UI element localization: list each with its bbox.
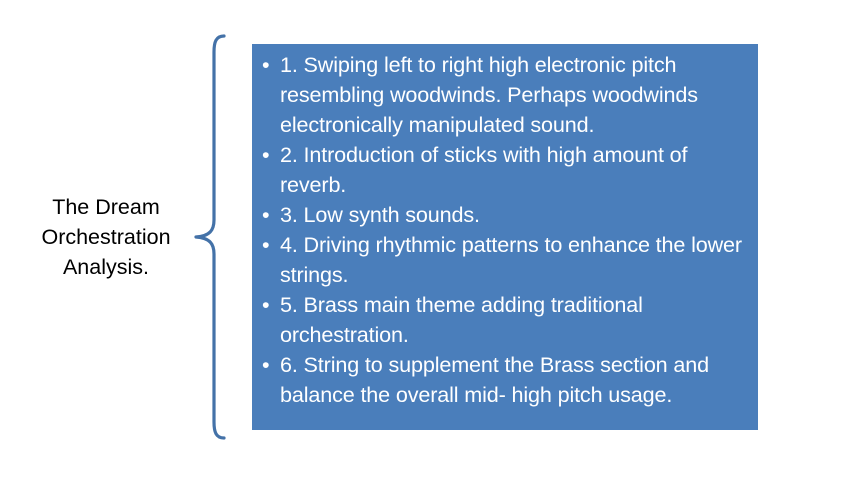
list-item: • 6. String to supplement the Brass sect… [260, 350, 754, 410]
bullet-icon: • [262, 140, 276, 170]
list-item-text: 4. Driving rhythmic patterns to enhance … [280, 230, 754, 290]
list-item: • 2. Introduction of sticks with high am… [260, 140, 754, 200]
caption-label: The Dream Orchestration Analysis. [28, 192, 184, 282]
bullet-icon: • [262, 200, 276, 230]
list-item: • 4. Driving rhythmic patterns to enhanc… [260, 230, 754, 290]
list-item-text: 6. String to supplement the Brass sectio… [280, 350, 754, 410]
list-item-text: 2. Introduction of sticks with high amou… [280, 140, 754, 200]
list-item-text: 5. Brass main theme adding traditional o… [280, 290, 754, 350]
analysis-content-box: • 1. Swiping left to right high electron… [252, 44, 758, 430]
bullet-icon: • [262, 230, 276, 260]
list-item: • 3. Low synth sounds. [260, 200, 754, 230]
list-item-text: 3. Low synth sounds. [280, 200, 754, 230]
slide-canvas: The Dream Orchestration Analysis. • 1. S… [0, 0, 860, 489]
right-curly-brace-icon [188, 34, 228, 444]
bullet-icon: • [262, 50, 276, 80]
bullet-list: • 1. Swiping left to right high electron… [260, 50, 754, 410]
bullet-icon: • [262, 290, 276, 320]
list-item-text: 1. Swiping left to right high electronic… [280, 50, 754, 140]
list-item: • 1. Swiping left to right high electron… [260, 50, 754, 140]
list-item: • 5. Brass main theme adding traditional… [260, 290, 754, 350]
bullet-icon: • [262, 350, 276, 380]
